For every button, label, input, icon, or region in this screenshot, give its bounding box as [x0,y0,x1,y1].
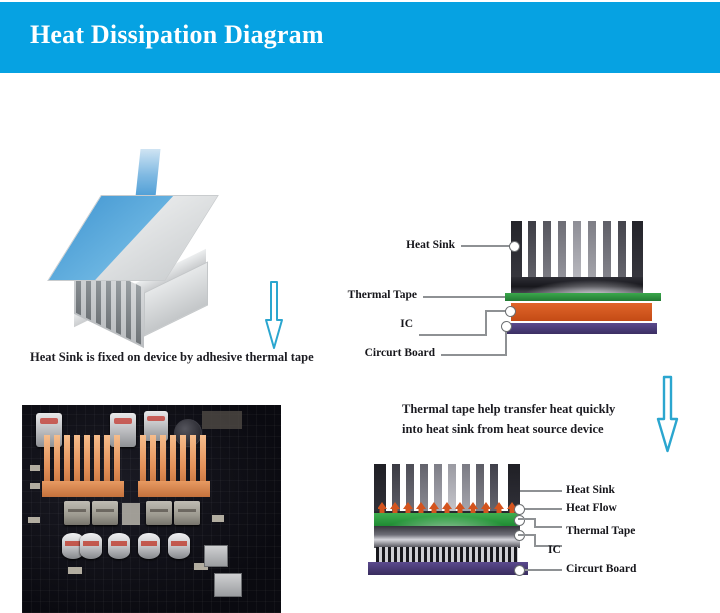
leader-line-tape-b-h2 [518,518,536,520]
leader-line-ic-b-v [534,534,536,547]
thermal-tape-layer-top [505,293,661,301]
anchor-dot-board-b [514,565,525,576]
thermal-tape-note-line2: into heat sink from heat source device [402,419,604,439]
leader-line-board-h [441,354,507,356]
anchor-dot-ic-b [514,530,525,541]
thermal-tape-peel [135,149,160,197]
leader-line-board-b [524,569,562,571]
leader-line-heat-flow-b [522,508,562,510]
circuit-board-layer-bottom [368,562,528,575]
label-heat-flow-bottom: Heat Flow [566,502,617,514]
leader-line-thermal-tape [423,296,505,298]
label-thermal-tape-bottom: Thermal Tape [566,525,635,537]
leader-line-heat-sink [461,245,511,247]
thermal-tape-layer-bottom [374,513,520,526]
ic-layer-top [511,303,652,321]
label-heat-sink-top: Heat Sink [406,239,455,251]
smd-component [122,503,140,525]
page-title: Heat Dissipation Diagram [30,20,324,50]
heat-sink-fins-top [511,221,643,293]
leader-line-ic-b-h2 [518,534,536,536]
anchor-dot-heat-flow [514,504,525,515]
label-thermal-tape-top: Thermal Tape [348,289,417,301]
ic-body-bottom [374,526,520,548]
capacitor [138,533,160,559]
smd-component [68,567,82,574]
thermal-tape-highlight [374,513,520,526]
down-arrow-icon-2 [655,375,681,453]
leader-line-tape-b-h [534,526,562,528]
label-ic-bottom: IC [548,544,561,556]
leader-line-ic-v [485,310,487,336]
page-header: Heat Dissipation Diagram [0,2,720,73]
label-ic-top: IC [400,318,413,330]
copper-heat-sink-right [138,435,210,497]
leader-line-board-v [505,325,507,355]
smd-component [28,517,40,523]
inductor [174,501,200,525]
smd-component [30,465,40,471]
thermal-tape-note-line1: Thermal tape help transfer heat quickly [402,399,615,419]
leader-line-heat-sink-b [520,490,562,492]
anchor-dot-heat-sink [509,241,520,252]
capacitor [168,533,190,559]
heatsink-photo [60,185,225,345]
heat-sink-base-bottom [374,511,520,519]
label-heat-sink-bottom: Heat Sink [566,484,615,496]
smd-component [202,411,242,429]
capacitor [80,533,102,559]
leader-line-tape-b-v [534,518,536,528]
anchor-dot-ic [505,306,516,317]
heatsink-photo-caption: Heat Sink is fixed on device by adhesive… [30,350,314,365]
down-arrow-icon-1 [262,280,286,350]
page-root: Heat Dissipation Diagram Heat Sink is fi… [0,0,720,613]
inductor [64,501,90,525]
inductor [92,501,118,525]
anchor-dot-thermal-tape [514,515,525,526]
pcb-photo [22,405,281,613]
label-circuit-board-top: Circurt Board [365,347,435,359]
smd-component [212,515,224,522]
circuit-board-layer-top [505,323,657,334]
connector [214,573,242,597]
label-circuit-board-bottom: Circurt Board [566,563,636,575]
heat-sink-fins-bottom [374,464,520,516]
heat-flow-arrows [378,502,520,524]
anchor-dot-board [501,321,512,332]
leader-line-ic-b-h [534,545,562,547]
leader-line-ic-h2 [485,310,509,312]
copper-heat-sink-left [42,435,124,497]
smd-component [30,483,40,489]
capacitor [108,533,130,559]
ic-pins [376,547,518,564]
inductor [146,501,172,525]
connector [204,545,228,567]
leader-line-ic-h [419,334,487,336]
